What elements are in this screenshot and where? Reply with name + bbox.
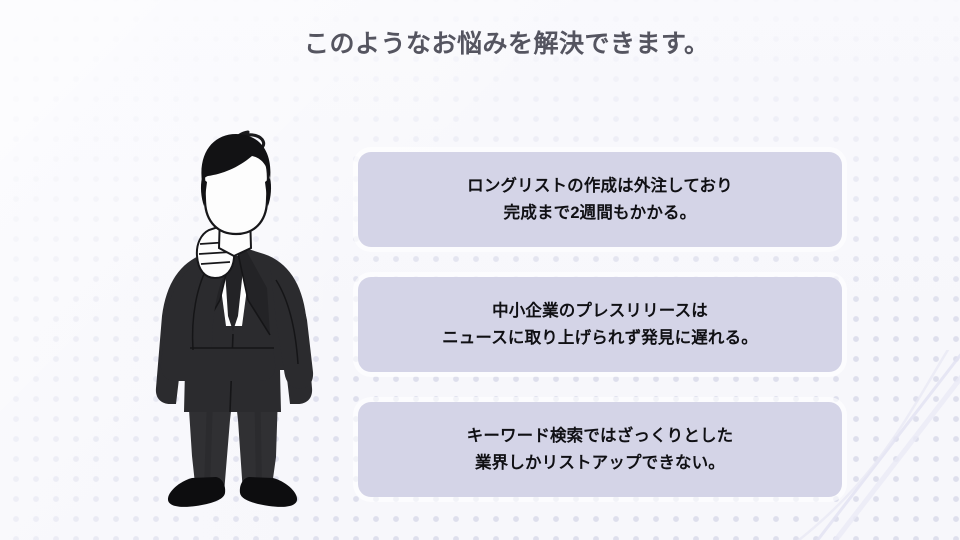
card-line: 中小企業のプレスリリースは [442, 298, 758, 325]
shoe-right [240, 477, 297, 507]
pain-point-card-3: キーワード検索ではざっくりとした 業界しかリストアップできない。 [358, 402, 842, 497]
card-line: ニュースに取り上げられず発見に遅れる。 [442, 325, 758, 352]
card-text: ロングリストの作成は外注しており 完成まで2週間もかかる。 [467, 173, 733, 226]
pain-point-card-2: 中小企業のプレスリリースは ニュースに取り上げられず発見に遅れる。 [358, 277, 842, 372]
page-title: このようなお悩みを解決できます。 [304, 24, 710, 60]
card-text: キーワード検索ではざっくりとした 業界しかリストアップできない。 [467, 423, 734, 476]
shoe-left [168, 477, 225, 507]
card-text: 中小企業のプレスリリースは ニュースに取り上げられず発見に遅れる。 [442, 298, 758, 351]
pain-point-card-list: ロングリストの作成は外注しており 完成まで2週間もかかる。 中小企業のプレスリリ… [358, 152, 842, 497]
slide-root: このようなお悩みを解決できます。 ロングリストの作成は外注しており 完成まで2週… [0, 0, 960, 540]
card-line: 業界しかリストアップできない。 [467, 450, 734, 477]
card-line: ロングリストの作成は外注しており [467, 173, 733, 200]
businessman-illustration [130, 120, 340, 510]
card-line: 完成まで2週間もかかる。 [467, 200, 733, 227]
pain-point-card-1: ロングリストの作成は外注しており 完成まで2週間もかかる。 [358, 152, 842, 247]
card-line: キーワード検索ではざっくりとした [467, 423, 734, 450]
